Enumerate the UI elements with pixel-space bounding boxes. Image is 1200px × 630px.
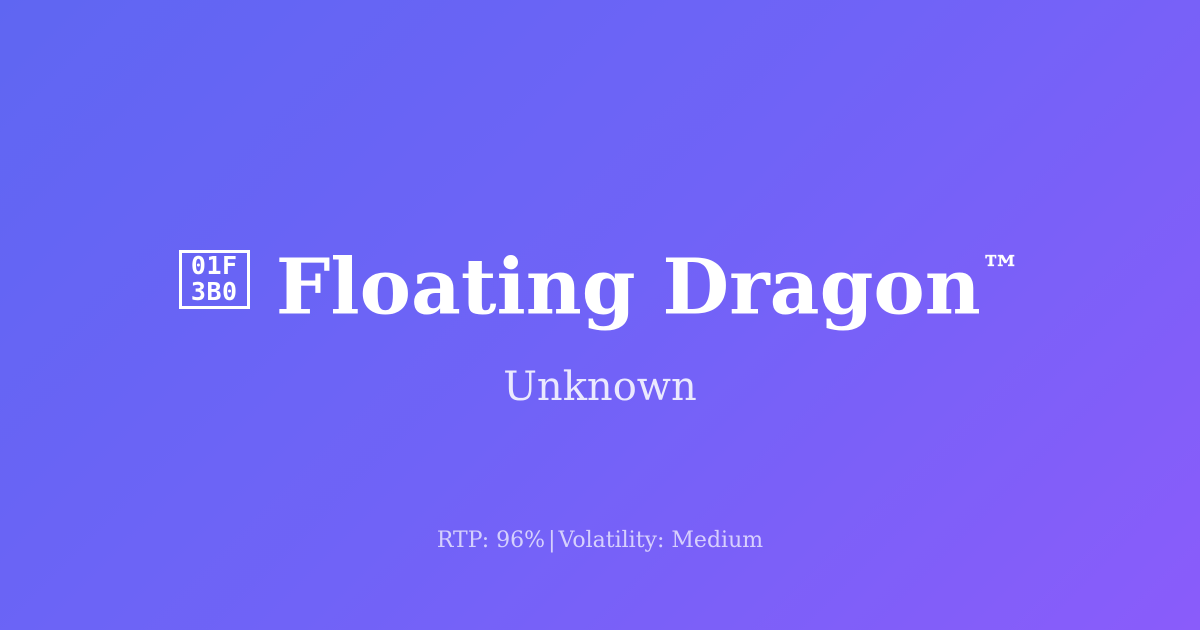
page-title: Floating Dragon™ — [276, 228, 1022, 331]
rtp-label: RTP: — [437, 528, 489, 553]
volatility-label: Volatility: — [559, 528, 665, 553]
stats-separator: | — [545, 528, 558, 553]
slot-machine-icon: 01F 3B0 — [179, 250, 250, 309]
tofu-codepoint-row-bottom: 3B0 — [191, 279, 238, 305]
page-title-text: Floating Dragon — [276, 243, 981, 333]
game-stats-footer: RTP: 96%|Volatility: Medium — [0, 526, 1200, 556]
og-image-card: 01F 3B0 Floating Dragon™ Unknown RTP: 96… — [0, 0, 1200, 630]
volatility-value: Medium — [671, 528, 763, 553]
rtp-value: 96% — [496, 528, 545, 553]
provider-subtitle: Unknown — [0, 362, 1200, 412]
tofu-codepoint-row-top: 01F — [191, 253, 238, 279]
trademark-symbol: ™ — [981, 247, 1022, 294]
title-row: 01F 3B0 Floating Dragon™ — [0, 228, 1200, 331]
